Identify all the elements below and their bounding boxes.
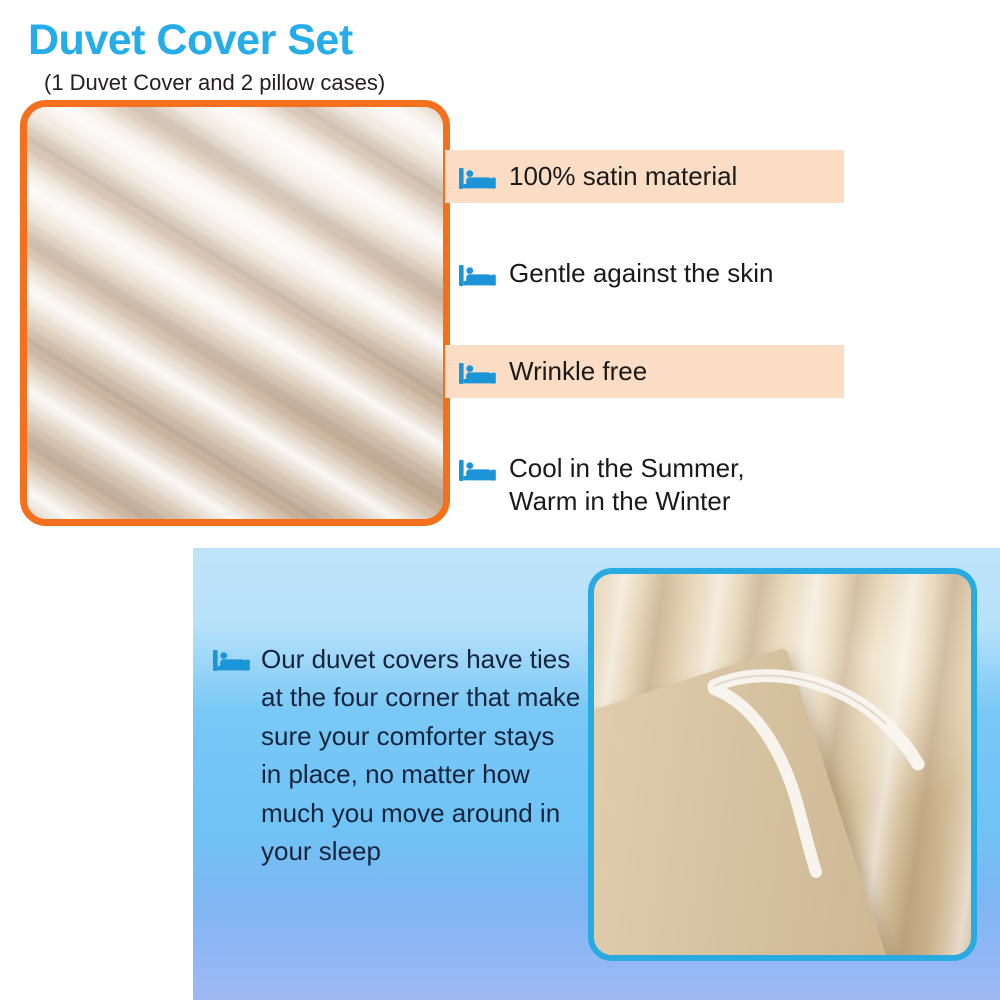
tie-ribbons	[594, 574, 977, 961]
feature-label: Cool in the Summer, Warm in the Winter	[509, 452, 745, 519]
feature-list: 100% satin material Gentle against the s…	[445, 150, 844, 528]
tie-description: Our duvet covers have ties at the four c…	[213, 640, 581, 871]
bed-icon	[459, 262, 497, 288]
feature-item-1: 100% satin material	[445, 150, 844, 203]
page-subtitle: (1 Duvet Cover and 2 pillow cases)	[44, 70, 385, 96]
bed-icon	[459, 165, 497, 191]
feature-item-2: Gentle against the skin	[445, 247, 844, 300]
tie-photo-image	[594, 574, 971, 955]
bed-icon	[459, 457, 497, 483]
feature-label: 100% satin material	[509, 160, 737, 193]
tie-description-text: Our duvet covers have ties at the four c…	[261, 640, 581, 871]
bed-icon	[459, 360, 497, 386]
tie-photo	[588, 568, 977, 961]
page-title: Duvet Cover Set	[28, 16, 353, 65]
feature-item-4: Cool in the Summer, Warm in the Winter	[445, 442, 844, 529]
bed-icon	[213, 647, 251, 673]
feature-label: Gentle against the skin	[509, 257, 774, 290]
feature-item-3: Wrinkle free	[445, 345, 844, 398]
product-infographic: Duvet Cover Set (1 Duvet Cover and 2 pil…	[0, 0, 1000, 1000]
fabric-photo-image	[27, 107, 443, 519]
feature-label: Wrinkle free	[509, 355, 647, 388]
fabric-photo	[20, 100, 450, 526]
